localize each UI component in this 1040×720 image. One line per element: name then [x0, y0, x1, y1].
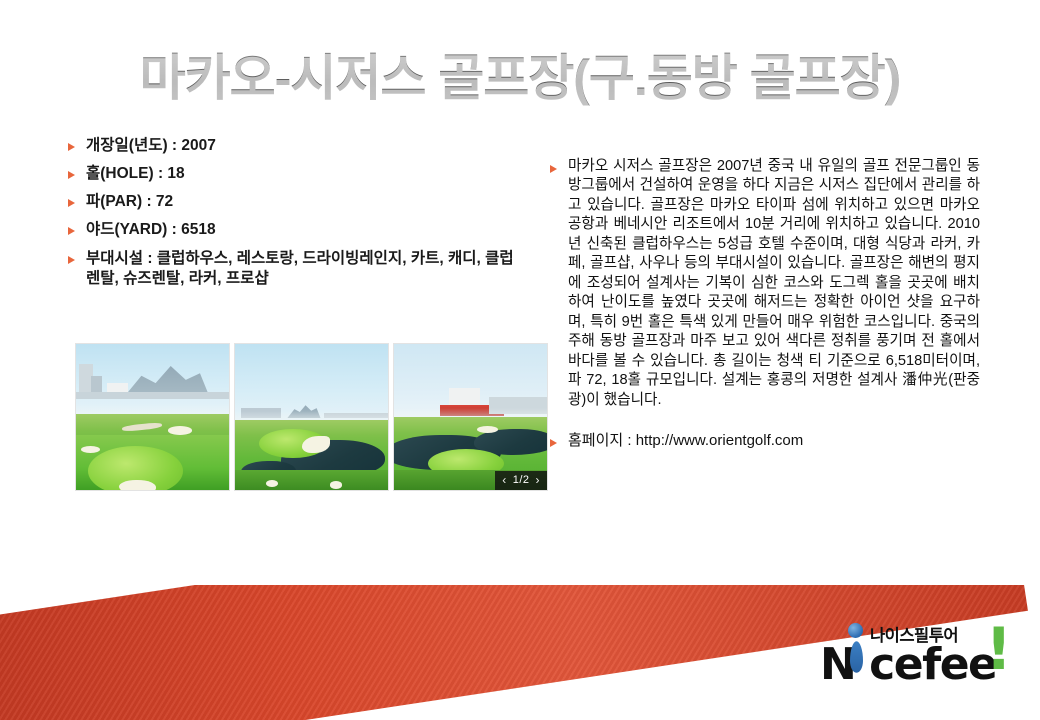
- gallery-nav-control[interactable]: ‹ 1/2 ›: [495, 471, 547, 490]
- homepage-item: 홈페이지 : http://www.orientgolf.com: [550, 431, 980, 451]
- nicefee-logo: 나이스필투어 N cefee !: [820, 622, 1016, 700]
- list-item: 부대시설 : 클럽하우스, 레스토랑, 드라이빙레인지, 카트, 캐디, 클럽렌…: [68, 249, 520, 289]
- triangle-bullet-icon: [68, 227, 75, 235]
- list-item-label: 개장일(년도) : 2007: [86, 136, 216, 156]
- slide-canvas: 마카오-시저스 골프장(구.동방 골프장) 개장일(년도) : 2007 홀(H…: [0, 0, 1040, 720]
- photo-gallery[interactable]: ‹ 1/2 ›: [75, 343, 548, 491]
- triangle-bullet-icon: [68, 199, 75, 207]
- prev-arrow-icon[interactable]: ‹: [502, 474, 507, 486]
- logo-dot-icon: [848, 623, 863, 638]
- list-item-label: 야드(YARD) : 6518: [86, 220, 216, 240]
- photo-bunker: [168, 426, 192, 435]
- gallery-photo[interactable]: ‹ 1/2 ›: [393, 343, 548, 491]
- photo-turf-front: [235, 470, 388, 490]
- right-description-panel: 마카오 시저스 골프장은 2007년 중국 내 유일의 골프 전문그룹인 동방그…: [550, 157, 980, 459]
- description-item: 마카오 시저스 골프장은 2007년 중국 내 유일의 골프 전문그룹인 동방그…: [550, 157, 980, 410]
- page-title-container: 마카오-시저스 골프장(구.동방 골프장): [0, 38, 1040, 110]
- list-item: 개장일(년도) : 2007: [68, 136, 520, 156]
- list-item: 홀(HOLE) : 18: [68, 164, 520, 184]
- gallery-photo[interactable]: [234, 343, 389, 491]
- list-item-label: 파(PAR) : 72: [86, 192, 173, 212]
- photo-skyline: [76, 392, 229, 399]
- list-item-label: 홀(HOLE) : 18: [86, 164, 185, 184]
- next-arrow-icon[interactable]: ›: [536, 474, 541, 486]
- photo-bunker: [330, 481, 342, 488]
- triangle-bullet-icon: [550, 439, 557, 447]
- gallery-counter: 1/2: [513, 475, 530, 486]
- left-info-list: 개장일(년도) : 2007 홀(HOLE) : 18 파(PAR) : 72 …: [68, 136, 520, 297]
- photo-bunker: [477, 426, 498, 433]
- list-item-label: 부대시설 : 클럽하우스, 레스토랑, 드라이빙레인지, 카트, 캐디, 클럽렌…: [86, 249, 520, 289]
- spacer: [550, 418, 980, 431]
- gallery-photo[interactable]: [75, 343, 230, 491]
- homepage-link[interactable]: 홈페이지 : http://www.orientgolf.com: [568, 431, 803, 451]
- triangle-bullet-icon: [68, 256, 75, 264]
- triangle-bullet-icon: [68, 171, 75, 179]
- logo-waterdrop-icon: [850, 641, 863, 673]
- course-description: 마카오 시저스 골프장은 2007년 중국 내 유일의 골프 전문그룹인 동방그…: [568, 157, 980, 410]
- page-title: 마카오-시저스 골프장(구.동방 골프장): [140, 38, 901, 110]
- list-item: 파(PAR) : 72: [68, 192, 520, 212]
- triangle-bullet-icon: [550, 165, 557, 173]
- photo-bunker: [119, 480, 156, 491]
- photo-bunker: [266, 480, 278, 487]
- logo-wordmark: N cefee: [820, 639, 996, 690]
- triangle-bullet-icon: [68, 143, 75, 151]
- list-item: 야드(YARD) : 6518: [68, 220, 520, 240]
- logo-exclamation-icon: !: [986, 620, 1012, 678]
